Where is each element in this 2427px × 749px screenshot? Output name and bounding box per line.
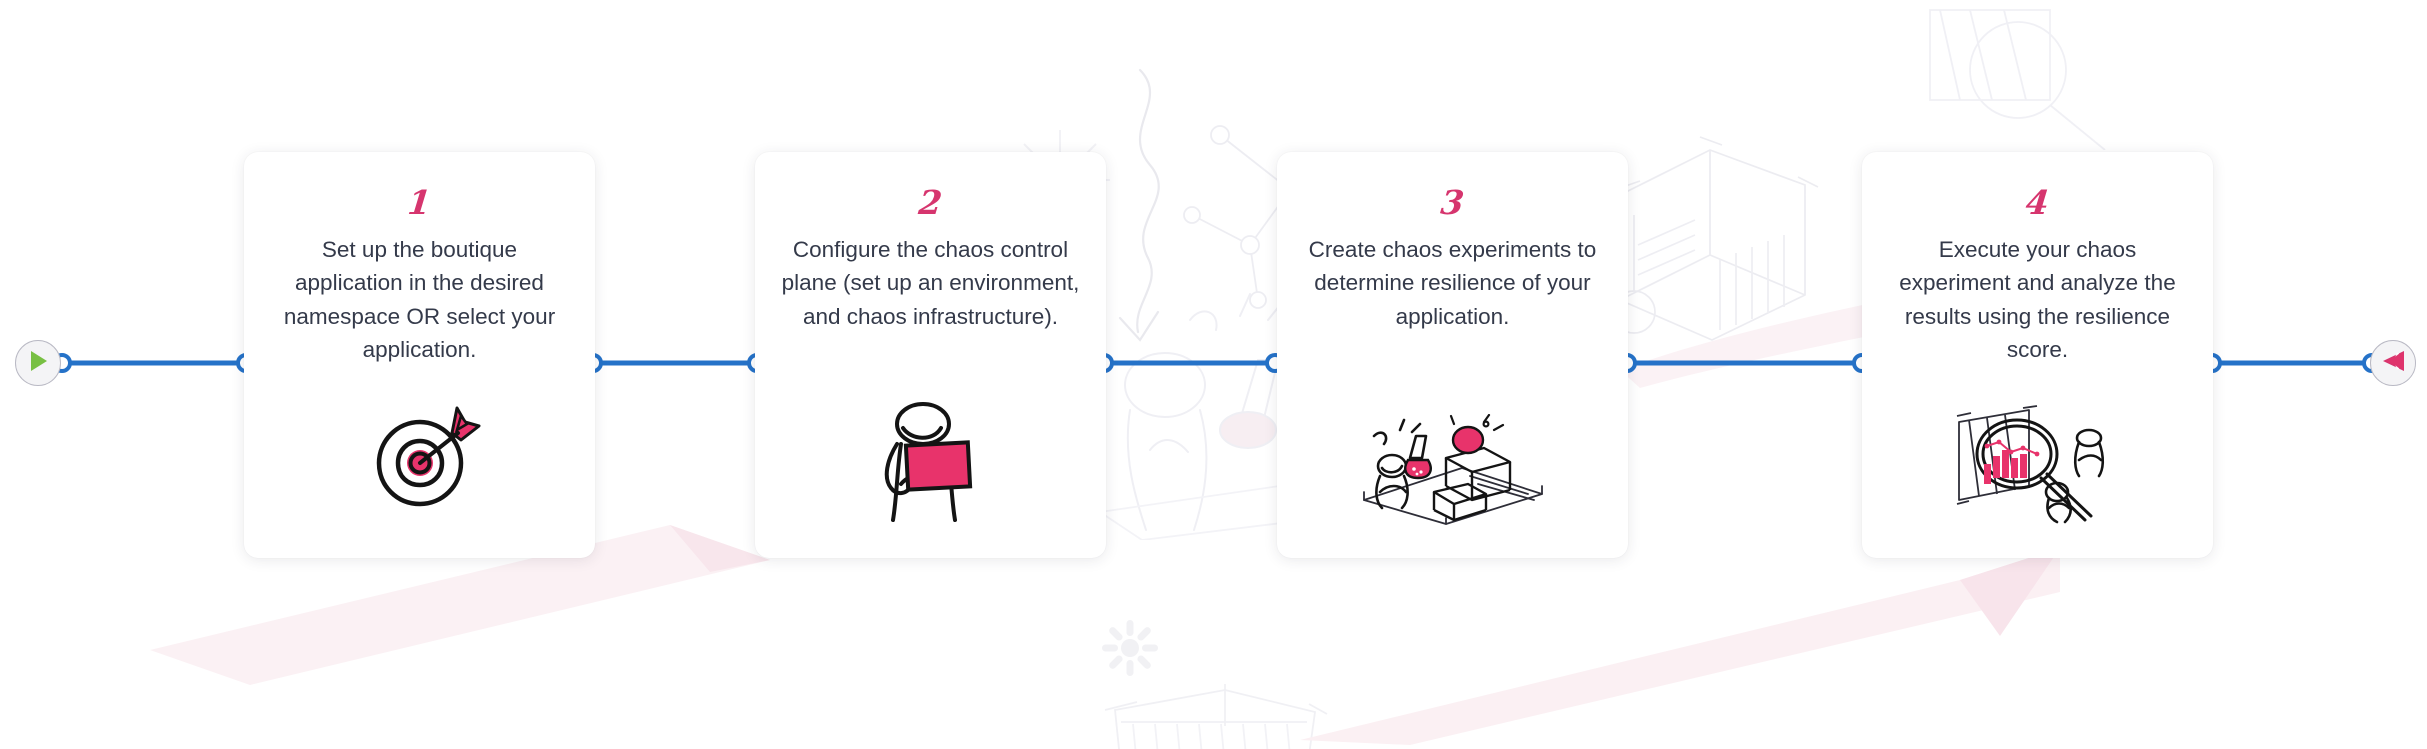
flow-diagram-canvas: 1 Set up the boutique application in the… (0, 0, 2427, 749)
watermark-magnifier-sketch (1900, 0, 2130, 150)
step-card-1[interactable]: 1 Set up the boutique application in the… (244, 152, 595, 558)
step-card-4[interactable]: 4 Execute your chaos experiment and anal… (1862, 152, 2213, 558)
step-number-2: 2 (917, 186, 943, 219)
magnifier-chart-illustration (1953, 396, 2123, 526)
step-text-1: Set up the boutique application in the d… (270, 233, 570, 366)
watermark-pink-ribbon-right (1300, 540, 2060, 749)
play-icon (27, 349, 49, 378)
step-text-3: Create chaos experiments to determine re… (1303, 233, 1603, 333)
step-text-4: Execute your chaos experiment and analyz… (1888, 233, 2188, 366)
step-number-1: 1 (406, 186, 432, 219)
scientist-experiment-illustration (1358, 396, 1548, 526)
step-text-2: Configure the chaos control plane (set u… (781, 233, 1081, 333)
start-node[interactable] (15, 340, 61, 386)
person-holding-board-illustration (875, 396, 987, 526)
target-with-arrow-illustration (357, 396, 483, 526)
step-card-2[interactable]: 2 Configure the chaos control plane (set… (755, 152, 1106, 558)
watermark-platform-sketch (1075, 680, 1335, 749)
step-card-3[interactable]: 3 Create chaos experiments to determine … (1277, 152, 1628, 558)
watermark-isometric-box (1600, 55, 1860, 345)
watermark-kubernetes-wheel (1100, 618, 1160, 678)
end-node[interactable] (2370, 340, 2416, 386)
litmus-logo-icon (2380, 348, 2406, 379)
step-number-3: 3 (1439, 186, 1465, 219)
step-number-4: 4 (2024, 186, 2050, 219)
